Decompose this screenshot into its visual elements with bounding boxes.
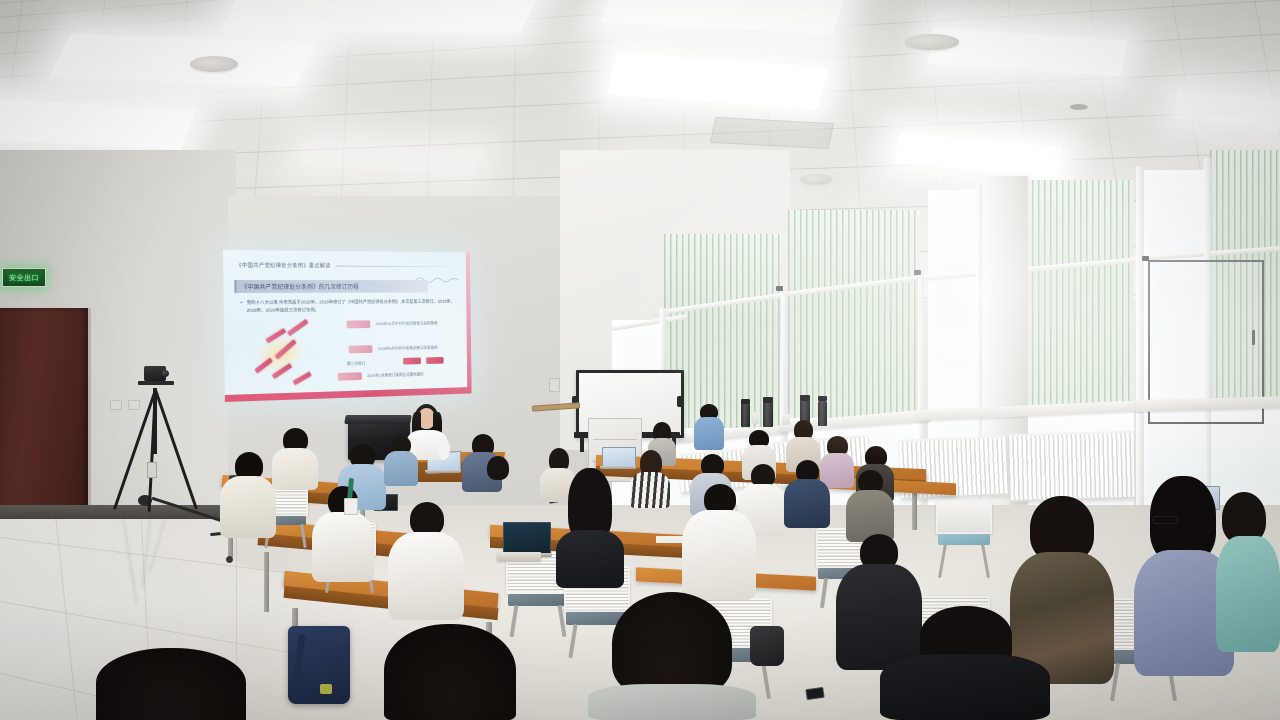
slide-title-text: 《中国共产党纪律处分条例》的几次修订历程 — [241, 282, 359, 291]
thermos-flask — [741, 403, 750, 427]
attendee-hair — [410, 502, 444, 536]
slide-bullet: ➢ 党的十八大以来,中央先后于2015年、2018年修订了《中国共产党纪律处分条… — [239, 298, 456, 315]
slide-header: 《中国共产党纪律处分条例》重点解读 — [236, 261, 449, 270]
ceiling-light-panel — [220, 0, 544, 32]
foreground-attendee — [370, 624, 530, 720]
foreground-attendee — [96, 648, 246, 720]
attendee-torso — [694, 417, 724, 450]
attendee-torso — [682, 510, 756, 600]
attendee — [384, 436, 418, 486]
desk-leg — [264, 552, 269, 612]
attendee-hair — [612, 592, 732, 696]
attendee-torso — [784, 479, 830, 528]
thermos-cap — [800, 395, 810, 401]
window-handle[interactable] — [1252, 330, 1255, 345]
camera-tripod[interactable] — [124, 366, 186, 514]
attendee — [630, 450, 670, 508]
thermos-flask — [763, 402, 773, 427]
wall-socket — [110, 400, 122, 410]
presenter-arm — [437, 438, 450, 460]
emergency-exit-sign: 安全出口 — [2, 268, 46, 287]
attendee-torso — [1216, 536, 1280, 652]
attendee-torso — [630, 472, 670, 508]
chair-leg — [761, 661, 771, 699]
radiator — [1009, 431, 1135, 502]
window-pane — [928, 190, 980, 430]
attendee-torso — [388, 532, 464, 620]
attendee — [784, 460, 830, 528]
exit-sign-label: 安全出口 — [9, 273, 39, 283]
diagram-label-badge — [346, 320, 370, 328]
backpack-logo — [320, 684, 332, 694]
chair-seat — [508, 594, 566, 606]
chair-backrest — [936, 500, 992, 534]
thermos-cap — [763, 397, 773, 403]
camera-lens-icon — [162, 370, 169, 377]
attendee — [388, 502, 464, 620]
attendee — [694, 404, 724, 450]
eyeglasses-icon — [848, 604, 876, 611]
whiteboard-leg — [580, 438, 584, 452]
smoke-detector-icon — [905, 34, 959, 50]
attendee-torso — [880, 654, 1050, 720]
attendee — [1216, 492, 1280, 652]
diagram-caption: 2018年8月中共中央再次修订印发条例 — [378, 345, 438, 352]
drinking-cup — [752, 412, 759, 424]
attendee-hair — [384, 624, 516, 720]
accent-chair[interactable] — [936, 500, 992, 578]
attendee — [682, 484, 756, 600]
chair-leg — [300, 524, 306, 548]
chair-leg — [938, 544, 947, 578]
attendee-hair — [96, 648, 246, 720]
attendee-torso — [272, 448, 318, 490]
attendee — [846, 470, 894, 542]
book-stack — [497, 552, 541, 561]
diagram-chip — [293, 371, 312, 385]
laptop-base — [425, 470, 461, 473]
ceiling-light-panel — [49, 34, 316, 87]
foreground-attendee — [880, 606, 1050, 720]
attendee — [272, 428, 318, 490]
attendee-torso — [476, 476, 518, 520]
attendee-torso — [220, 476, 276, 538]
tripod-head-plate — [138, 381, 174, 385]
slide-diagram: 2015年10月中共中央印发修订后的条例 2018年8月中共中央再次修订印发条例… — [232, 317, 465, 391]
classroom-photo: 安全出口 《中国共产党纪律处分条例》重点解读 《中国共产党纪律处分条例》的几次修… — [0, 0, 1280, 720]
foreground-attendee — [588, 592, 756, 720]
chair-leg — [981, 544, 990, 578]
thermos-cap — [818, 396, 827, 401]
diagram-inline-text: 第三次修订 — [347, 361, 365, 367]
slide-header-text: 《中国共产党纪律处分条例》重点解读 — [236, 261, 331, 269]
ceiling-speaker — [1070, 104, 1088, 110]
attendee — [312, 486, 374, 582]
attendee-torso — [556, 530, 624, 588]
window-hinge — [914, 270, 921, 275]
slide-title-band: 《中国共产党纪律处分条例》的几次修订历程 — [234, 280, 428, 293]
desk-caster — [226, 556, 233, 563]
tripod-counterweight — [147, 462, 157, 478]
attendee — [220, 452, 276, 538]
window-hinge — [776, 286, 783, 291]
slide-header-rule — [335, 265, 449, 267]
slide-bullet-text: 党的十八大以来,中央先后于2015年、2018年修订了《中国共产党纪律处分条例》… — [247, 298, 457, 315]
wall-switch[interactable] — [549, 378, 560, 392]
eyeglasses-icon — [1152, 516, 1178, 524]
attendee-torso — [588, 684, 756, 720]
piano-lid — [344, 415, 412, 424]
attendee — [556, 468, 624, 588]
chair-leg — [568, 624, 577, 658]
smoke-detector-icon — [190, 56, 238, 72]
diagram-pill — [403, 358, 421, 365]
cabinet-seam — [593, 439, 637, 440]
diagram-caption: 2015年10月中共中央印发修订后的条例 — [376, 321, 438, 327]
thermos-cap — [741, 399, 750, 404]
diagram-pill — [426, 357, 444, 364]
window-hinge — [1142, 256, 1149, 261]
attendee — [476, 456, 518, 520]
slide-bullet-marker: ➢ — [239, 299, 243, 315]
attendee-torso — [384, 451, 418, 486]
diagram-label-badge — [338, 372, 362, 380]
lanyard-badge — [344, 498, 358, 515]
diagram-chip — [287, 319, 308, 336]
projected-slide: 《中国共产党纪律处分条例》重点解读 《中国共产党纪律处分条例》的几次修订历程 ➢… — [223, 250, 472, 402]
attendee-torso — [312, 512, 374, 582]
whiteboard-pivot-knob[interactable] — [677, 396, 683, 407]
tablet[interactable] — [503, 522, 551, 556]
diagram-caption: 2024年1月新修订条例正式颁布施行 — [367, 372, 424, 379]
chair-leg — [820, 578, 828, 608]
diagram-label-badge — [349, 345, 373, 353]
